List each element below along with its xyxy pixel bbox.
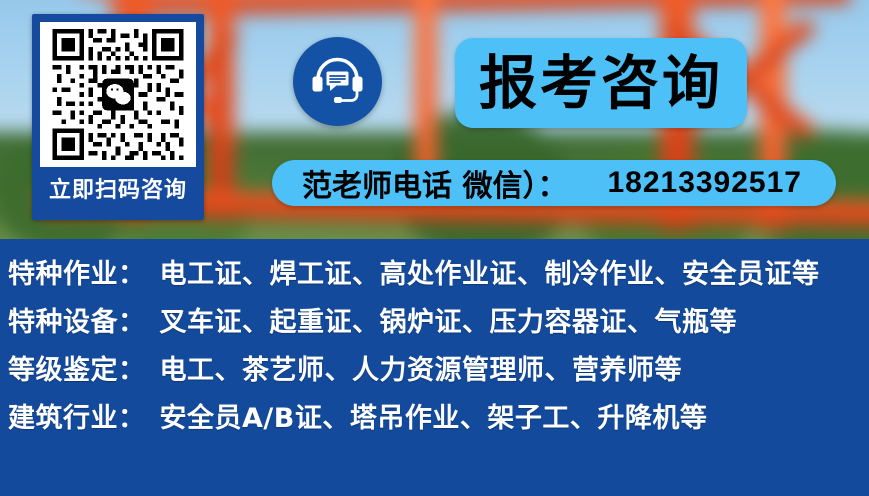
qr-code-frame <box>40 22 196 167</box>
headset-chat-icon <box>310 54 365 109</box>
category-items: 电工、茶艺师、人力资源管理师、营养师等 <box>160 348 683 387</box>
category-label: 特种设备： <box>8 300 146 339</box>
category-label: 建筑行业： <box>8 396 146 435</box>
qr-card[interactable]: 立即扫码咨询 <box>32 14 204 220</box>
headset-support-badge[interactable] <box>293 37 382 126</box>
category-row: 特种设备： 叉车证、起重证、锅炉证、压力容器证、气瓶等 <box>0 300 869 348</box>
category-row: 特种作业： 电工证、焊工证、高处作业证、制冷作业、安全员证等 <box>0 252 869 300</box>
contact-label: 范老师电话 微信）： <box>302 161 567 205</box>
promo-poster: 立即扫码咨询 报考咨询 范老师电话 微信）： 18213392517 特种 <box>0 0 869 496</box>
category-row: 建筑行业： 安全员A/B证、塔吊作业、架子工、升降机等 <box>0 396 869 444</box>
category-row: 等级鉴定： 电工、茶艺师、人力资源管理师、营养师等 <box>0 348 869 396</box>
qr-scan-label: 立即扫码咨询 <box>32 172 204 204</box>
category-label: 特种作业： <box>8 252 146 291</box>
category-items: 安全员A/B证、塔吊作业、架子工、升降机等 <box>160 396 708 435</box>
contact-phone-bar[interactable]: 范老师电话 微信）： 18213392517 <box>272 160 836 206</box>
category-label: 等级鉴定： <box>8 348 146 387</box>
contact-phone-number[interactable]: 18213392517 <box>607 166 802 200</box>
certificate-categories-panel: 特种作业： 电工证、焊工证、高处作业证、制冷作业、安全员证等 特种设备： 叉车证… <box>0 239 869 496</box>
consult-title-badge: 报考咨询 <box>455 38 747 128</box>
wechat-qr-code-icon <box>50 29 186 160</box>
category-items: 叉车证、起重证、锅炉证、压力容器证、气瓶等 <box>160 300 738 339</box>
page-title: 报考咨询 <box>479 54 723 112</box>
category-items: 电工证、焊工证、高处作业证、制冷作业、安全员证等 <box>160 252 820 291</box>
